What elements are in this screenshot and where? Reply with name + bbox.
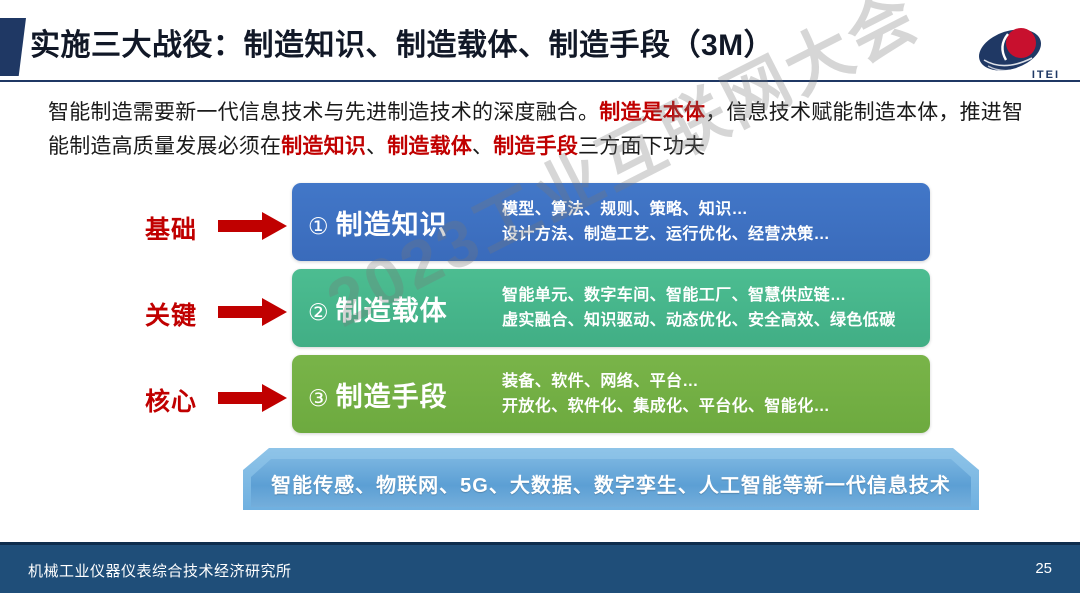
layer-detail-2: 智能单元、数字车间、智能工厂、智慧供应链… 虚实融合、知识驱动、动态优化、安全高…: [502, 283, 930, 333]
layer-inner: ③制造手段 装备、软件、网络、平台… 开放化、软件化、集成化、平台化、智能化…: [292, 355, 930, 433]
intro-highlight-2: 制造知识: [281, 135, 366, 158]
intro-highlight-4: 制造手段: [493, 135, 578, 158]
banner-label: 智能传感、物联网、5G、大数据、数字孪生、人工智能等新一代信息技术: [271, 469, 951, 498]
footer-organization: 机械工业仪器仪表综合技术经济研究所: [28, 560, 292, 581]
slide-footer: 机械工业仪器仪表综合技术经济研究所 25: [0, 542, 1080, 593]
side-label-foundation: 基础: [128, 210, 214, 246]
footer-page-number: 25: [1035, 560, 1052, 577]
intro-text-3: 三方面下功夫: [578, 135, 705, 158]
intro-highlight-3: 制造载体: [387, 135, 472, 158]
banner-face: 智能传感、物联网、5G、大数据、数字孪生、人工智能等新一代信息技术: [251, 459, 971, 507]
side-label-key: 关键: [128, 296, 214, 332]
itei-logo: ITEI: [974, 24, 1066, 82]
intro-text-1: 智能制造需要新一代信息技术与先进制造技术的深度融合。: [48, 101, 599, 124]
layer-detail-3-line2: 开放化、软件化、集成化、平台化、智能化…: [502, 394, 920, 419]
slide-title-bar: 实施三大战役：制造知识、制造载体、制造手段（3M）: [0, 18, 1080, 76]
page-title: 实施三大战役：制造知识、制造载体、制造手段（3M）: [30, 20, 774, 64]
title-accent-bar: [0, 18, 26, 76]
layer-number-1: ①: [308, 213, 330, 239]
layer-detail-2-line2: 虚实融合、知识驱动、动态优化、安全高效、绿色低碳: [502, 308, 920, 333]
layer-inner: ②制造载体 智能单元、数字车间、智能工厂、智慧供应链… 虚实融合、知识驱动、动态…: [292, 269, 930, 347]
layer-detail-1-line2: 设计方法、制造工艺、运行优化、经营决策…: [502, 222, 920, 247]
layer-inner: ①制造知识 模型、算法、规则、策略、知识… 设计方法、制造工艺、运行优化、经营决…: [292, 183, 930, 261]
intro-paragraph: 智能制造需要新一代信息技术与先进制造技术的深度融合。制造是本体，信息技术赋能制造…: [48, 96, 1038, 164]
arrow-core-icon: [218, 383, 288, 413]
side-label-core: 核心: [128, 382, 214, 418]
layer-name-1: 制造知识: [336, 210, 448, 240]
logo-label: ITEI: [1032, 69, 1060, 81]
layer-card-manufacturing-means[interactable]: ③制造手段 装备、软件、网络、平台… 开放化、软件化、集成化、平台化、智能化…: [292, 355, 930, 433]
foundation-technology-banner[interactable]: 智能传感、物联网、5G、大数据、数字孪生、人工智能等新一代信息技术: [243, 448, 979, 510]
layer-detail-1-line1: 模型、算法、规则、策略、知识…: [502, 197, 920, 222]
intro-highlight-1: 制造是本体: [599, 101, 705, 124]
layer-title-2: ②制造载体: [292, 289, 502, 328]
layer-card-manufacturing-knowledge[interactable]: ①制造知识 模型、算法、规则、策略、知识… 设计方法、制造工艺、运行优化、经营决…: [292, 183, 930, 261]
slide-canvas: 实施三大战役：制造知识、制造载体、制造手段（3M） ITEI 智能制造需要新一代…: [0, 0, 1080, 593]
layer-name-3: 制造手段: [336, 382, 448, 412]
layer-name-2: 制造载体: [336, 296, 448, 326]
layer-detail-3-line1: 装备、软件、网络、平台…: [502, 369, 920, 394]
layer-title-1: ①制造知识: [292, 203, 502, 242]
layer-number-3: ③: [308, 385, 330, 411]
arrow-foundation-icon: [218, 211, 288, 241]
layer-detail-1: 模型、算法、规则、策略、知识… 设计方法、制造工艺、运行优化、经营决策…: [502, 197, 930, 247]
arrow-key-icon: [218, 297, 288, 327]
layer-card-manufacturing-carrier[interactable]: ②制造载体 智能单元、数字车间、智能工厂、智慧供应链… 虚实融合、知识驱动、动态…: [292, 269, 930, 347]
layer-detail-3: 装备、软件、网络、平台… 开放化、软件化、集成化、平台化、智能化…: [502, 369, 930, 419]
layer-number-2: ②: [308, 299, 330, 325]
intro-sep-2: 、: [472, 135, 493, 158]
layer-title-3: ③制造手段: [292, 375, 502, 414]
intro-sep-1: 、: [366, 135, 387, 158]
title-divider: [0, 80, 1080, 82]
layer-detail-2-line1: 智能单元、数字车间、智能工厂、智慧供应链…: [502, 283, 920, 308]
